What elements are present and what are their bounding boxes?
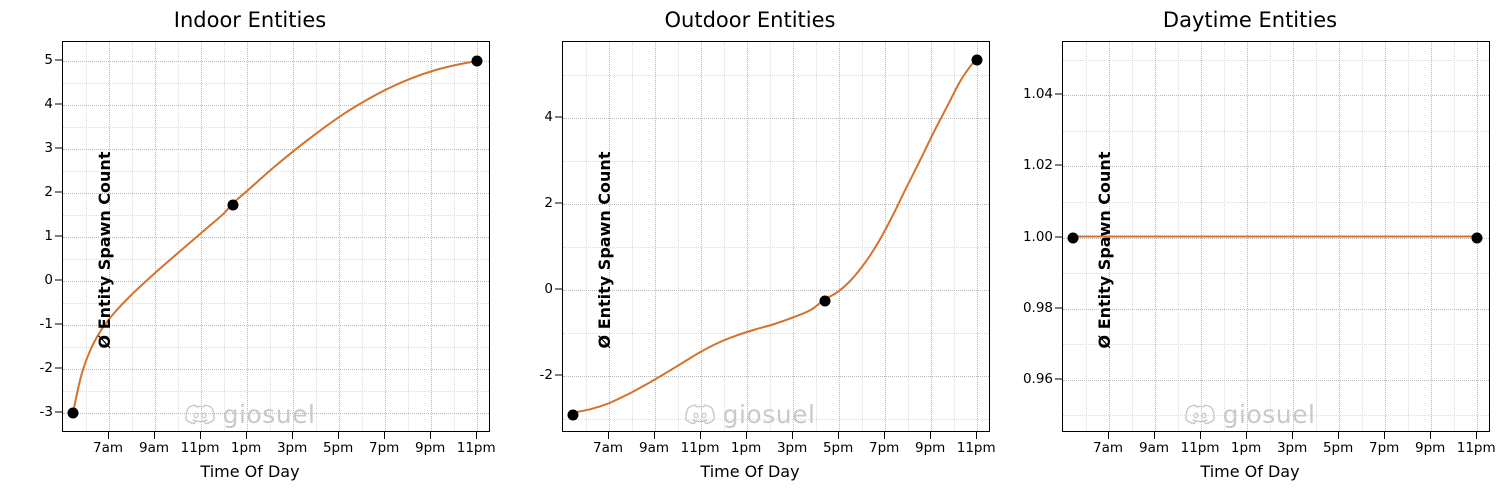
y-axis-label: Ø Entity Spawn Count xyxy=(95,152,114,349)
x-tick-label: 5pm xyxy=(823,440,853,456)
x-tick-label: 9pm xyxy=(1415,440,1445,456)
x-tick-mark xyxy=(654,432,655,439)
y-axis-label-text: Ø Entity Spawn Count xyxy=(1095,152,1114,349)
x-tick-mark xyxy=(1338,432,1339,439)
x-tick-label: 3pm xyxy=(1277,440,1307,456)
x-tick-label: 5pm xyxy=(323,440,353,456)
x-tick-mark xyxy=(430,432,431,439)
x-axis-label: Time Of Day xyxy=(1000,462,1500,481)
x-axis-ticks: 7am9am11pm1pm3pm5pm7pm9pm11pm xyxy=(500,0,1000,500)
y-axis-label: Ø Entity Spawn Count xyxy=(1095,152,1114,349)
x-tick-label: 7am xyxy=(1093,440,1123,456)
x-tick-label: 7pm xyxy=(869,440,899,456)
y-axis-label: Ø Entity Spawn Count xyxy=(595,152,614,349)
x-tick-mark xyxy=(1200,432,1201,439)
x-tick-label: 3pm xyxy=(777,440,807,456)
chart-panel-1: Outdoor Entitiesgiosuel-20247am9am11pm1p… xyxy=(500,0,1000,500)
x-tick-mark xyxy=(338,432,339,439)
x-axis-ticks: 7am9am11pm1pm3pm5pm7pm9pm11pm xyxy=(0,0,500,500)
x-tick-label: 5pm xyxy=(1323,440,1353,456)
x-tick-mark xyxy=(384,432,385,439)
x-tick-label: 9pm xyxy=(415,440,445,456)
x-tick-mark xyxy=(1430,432,1431,439)
x-tick-label: 9am xyxy=(139,440,169,456)
x-tick-mark xyxy=(746,432,747,439)
x-tick-mark xyxy=(1154,432,1155,439)
x-tick-mark xyxy=(608,432,609,439)
y-axis-label-text: Ø Entity Spawn Count xyxy=(595,152,614,349)
x-tick-label: 11pm xyxy=(181,440,220,456)
x-tick-label: 11pm xyxy=(1181,440,1220,456)
x-axis-ticks: 7am9am11pm1pm3pm5pm7pm9pm11pm xyxy=(1000,0,1500,500)
x-tick-label: 11pm xyxy=(957,440,996,456)
x-tick-mark xyxy=(1384,432,1385,439)
chart-panel-0: Indoor Entitiesgiosuel-3-2-10123457am9am… xyxy=(0,0,500,500)
x-tick-mark xyxy=(200,432,201,439)
x-tick-mark xyxy=(838,432,839,439)
x-axis-label: Time Of Day xyxy=(500,462,1000,481)
x-tick-mark xyxy=(476,432,477,439)
x-tick-label: 7am xyxy=(593,440,623,456)
x-tick-mark xyxy=(1476,432,1477,439)
x-axis-label: Time Of Day xyxy=(0,462,500,481)
x-tick-mark xyxy=(976,432,977,439)
y-axis-label-text: Ø Entity Spawn Count xyxy=(95,152,114,349)
x-tick-label: 11pm xyxy=(1457,440,1496,456)
x-tick-mark xyxy=(1292,432,1293,439)
x-tick-label: 9am xyxy=(1139,440,1169,456)
x-tick-mark xyxy=(1108,432,1109,439)
x-tick-mark xyxy=(108,432,109,439)
x-tick-label: 9pm xyxy=(915,440,945,456)
x-tick-label: 1pm xyxy=(731,440,761,456)
x-tick-label: 7pm xyxy=(369,440,399,456)
x-tick-label: 7pm xyxy=(1369,440,1399,456)
chart-panel-2: Daytime Entitiesgiosuel0.960.981.001.021… xyxy=(1000,0,1500,500)
x-tick-label: 7am xyxy=(93,440,123,456)
figure-canvas: Indoor Entitiesgiosuel-3-2-10123457am9am… xyxy=(0,0,1500,500)
x-tick-label: 9am xyxy=(639,440,669,456)
x-tick-mark xyxy=(154,432,155,439)
x-tick-mark xyxy=(246,432,247,439)
x-tick-mark xyxy=(792,432,793,439)
x-tick-mark xyxy=(930,432,931,439)
x-tick-mark xyxy=(1246,432,1247,439)
x-tick-mark xyxy=(700,432,701,439)
x-tick-mark xyxy=(292,432,293,439)
x-tick-label: 1pm xyxy=(1231,440,1261,456)
x-tick-label: 1pm xyxy=(231,440,261,456)
x-tick-mark xyxy=(884,432,885,439)
x-tick-label: 11pm xyxy=(681,440,720,456)
x-tick-label: 11pm xyxy=(457,440,496,456)
x-tick-label: 3pm xyxy=(277,440,307,456)
